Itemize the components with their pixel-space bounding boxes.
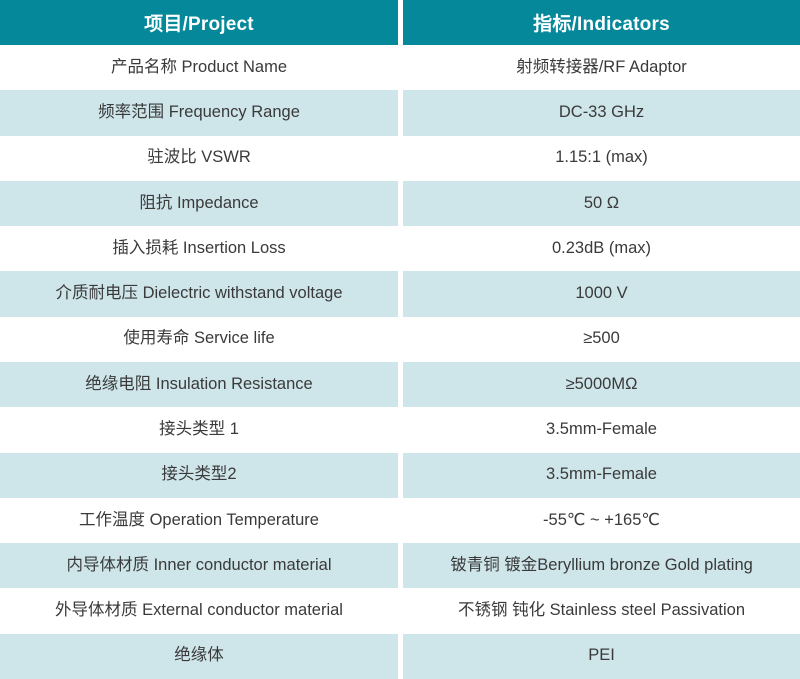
- table-row: 绝缘电阻 Insulation Resistance≥5000MΩ: [0, 362, 800, 407]
- cell-indicator: 3.5mm-Female: [403, 453, 800, 498]
- specification-table: 项目/Project 指标/Indicators 产品名称 Product Na…: [0, 0, 800, 679]
- cell-indicator: 1.15:1 (max): [403, 136, 800, 181]
- table-row: 产品名称 Product Name射频转接器/RF Adaptor: [0, 45, 800, 90]
- table-row: 介质耐电压 Dielectric withstand voltage1000 V: [0, 271, 800, 316]
- cell-indicator: PEI: [403, 634, 800, 679]
- table-row: 插入损耗 Insertion Loss0.23dB (max): [0, 226, 800, 271]
- cell-indicator: 铍青铜 镀金Beryllium bronze Gold plating: [403, 543, 800, 588]
- cell-indicator: ≥5000MΩ: [403, 362, 800, 407]
- cell-indicator: 1000 V: [403, 271, 800, 316]
- table-row: 接头类型 13.5mm-Female: [0, 407, 800, 452]
- cell-indicator: ≥500: [403, 317, 800, 362]
- table-header-row: 项目/Project 指标/Indicators: [0, 0, 800, 45]
- cell-project: 外导体材质 External conductor material: [0, 588, 398, 633]
- cell-indicator: 不锈钢 钝化 Stainless steel Passivation: [403, 588, 800, 633]
- cell-project: 内导体材质 Inner conductor material: [0, 543, 398, 588]
- cell-project: 接头类型 1: [0, 407, 398, 452]
- cell-indicator: 0.23dB (max): [403, 226, 800, 271]
- table-row: 使用寿命 Service life≥500: [0, 317, 800, 362]
- table-row: 频率范围 Frequency RangeDC-33 GHz: [0, 90, 800, 135]
- column-header-project: 项目/Project: [0, 0, 398, 45]
- table-row: 驻波比 VSWR1.15:1 (max): [0, 136, 800, 181]
- cell-project: 接头类型2: [0, 453, 398, 498]
- table-row: 接头类型23.5mm-Female: [0, 453, 800, 498]
- cell-project: 频率范围 Frequency Range: [0, 90, 398, 135]
- table-row: 外导体材质 External conductor material不锈钢 钝化 …: [0, 588, 800, 633]
- cell-indicator: 3.5mm-Female: [403, 407, 800, 452]
- table-row: 工作温度 Operation Temperature-55℃ ~ +165℃: [0, 498, 800, 543]
- cell-project: 工作温度 Operation Temperature: [0, 498, 398, 543]
- column-header-indicators: 指标/Indicators: [403, 0, 800, 45]
- table-body: 产品名称 Product Name射频转接器/RF Adaptor频率范围 Fr…: [0, 45, 800, 679]
- cell-project: 介质耐电压 Dielectric withstand voltage: [0, 271, 398, 316]
- cell-indicator: 50 Ω: [403, 181, 800, 226]
- cell-project: 绝缘体: [0, 634, 398, 679]
- cell-indicator: DC-33 GHz: [403, 90, 800, 135]
- cell-project: 使用寿命 Service life: [0, 317, 398, 362]
- cell-project: 阻抗 Impedance: [0, 181, 398, 226]
- cell-project: 插入损耗 Insertion Loss: [0, 226, 398, 271]
- table-row: 内导体材质 Inner conductor material铍青铜 镀金Bery…: [0, 543, 800, 588]
- cell-project: 产品名称 Product Name: [0, 45, 398, 90]
- cell-indicator: -55℃ ~ +165℃: [403, 498, 800, 543]
- cell-project: 驻波比 VSWR: [0, 136, 398, 181]
- cell-project: 绝缘电阻 Insulation Resistance: [0, 362, 398, 407]
- table-row: 绝缘体PEI: [0, 634, 800, 679]
- table-row: 阻抗 Impedance50 Ω: [0, 181, 800, 226]
- cell-indicator: 射频转接器/RF Adaptor: [403, 45, 800, 90]
